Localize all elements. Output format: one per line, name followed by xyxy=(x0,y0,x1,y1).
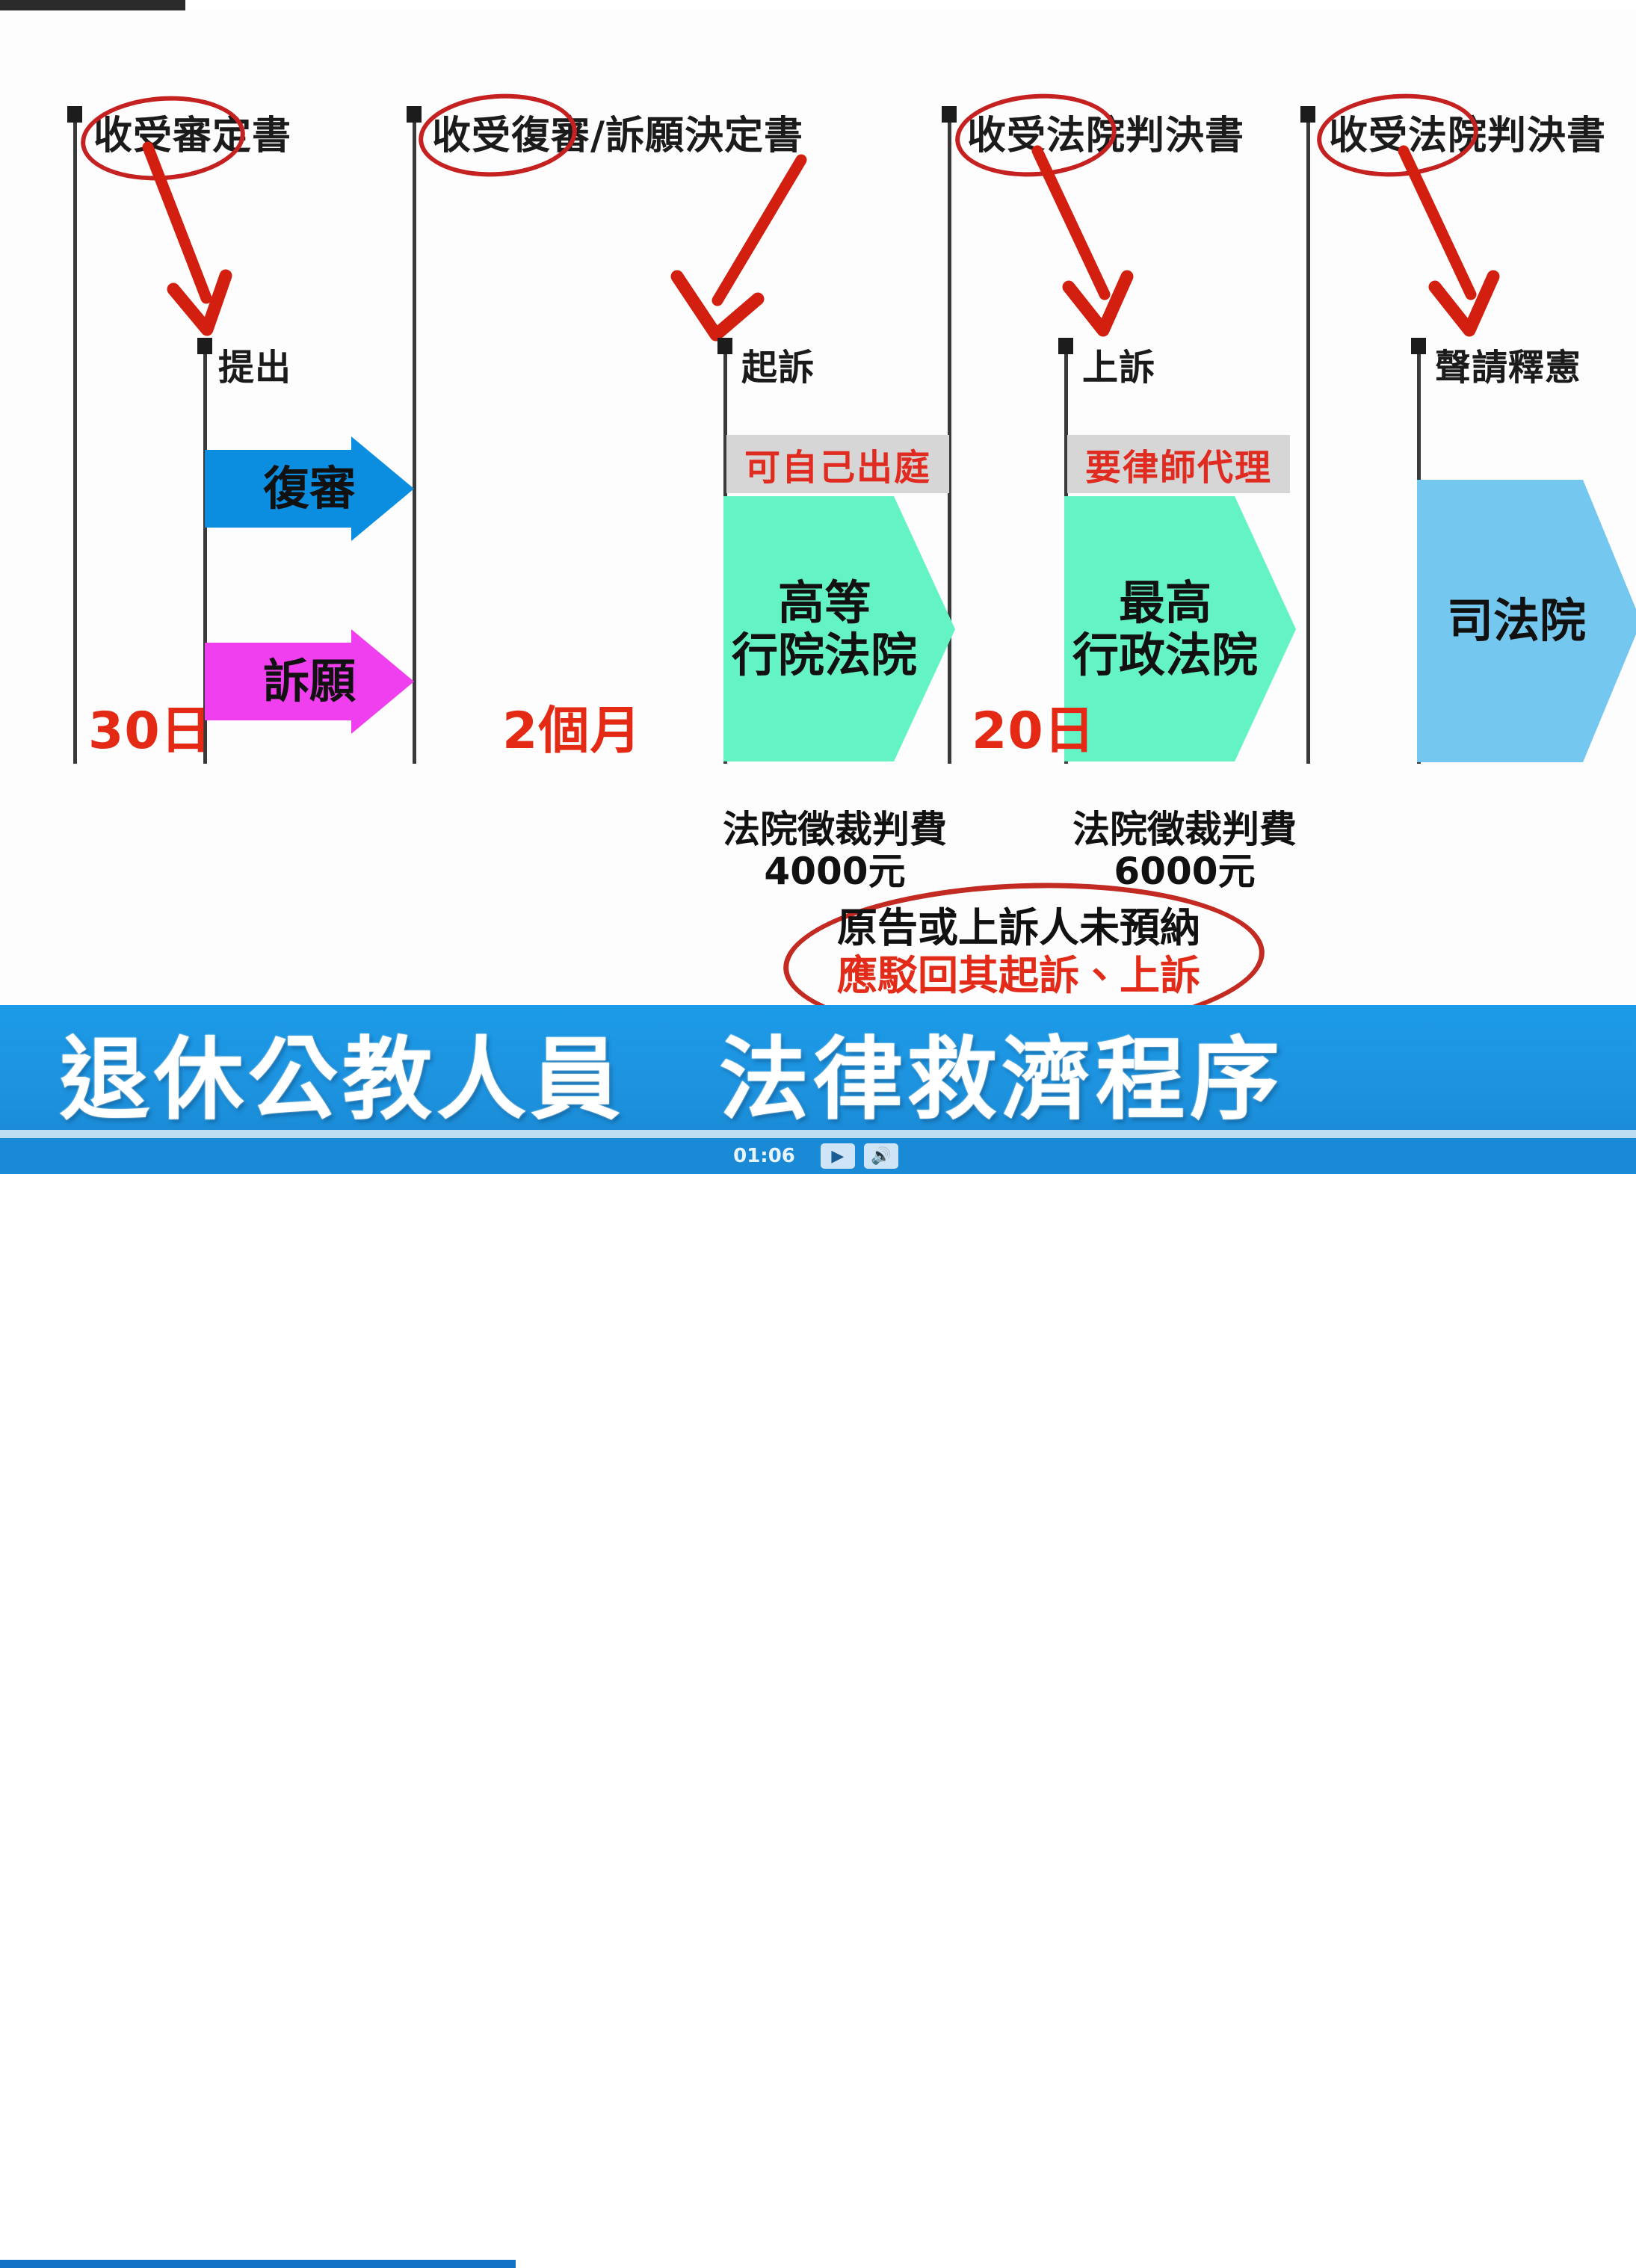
flow-arrow-judicial-yuan-label: 司法院 xyxy=(1447,595,1586,646)
timeline-node-col4-mid xyxy=(1411,338,1426,354)
flow-arrow-review-label: 復審 xyxy=(263,463,356,514)
flow-label-line1: 高等 xyxy=(732,577,917,628)
timeline-rule-col1-left xyxy=(73,108,77,764)
node-label-col3-mid: 上訴 xyxy=(1082,338,1155,390)
fee-note-col2: 法院徵裁判費 4000元 xyxy=(711,809,958,892)
warning-note: 原告或上訴人未預納 應駁回其起訴、上訴 xyxy=(798,904,1239,999)
timeline-node-col1-mid xyxy=(197,338,212,354)
annotation-arrow-col1 xyxy=(135,141,239,343)
timeline-rule-col3-right xyxy=(1306,108,1310,764)
duration-col2: 2個月 xyxy=(502,689,641,763)
warning-note-line1: 原告或上訴人未預納 xyxy=(798,904,1239,952)
flow-arrow-appeal: 訴願 xyxy=(205,629,414,734)
timeline-node-col2-mid xyxy=(717,338,732,354)
node-label-col1-mid: 提出 xyxy=(218,338,291,390)
flow-label-line2: 行政法院 xyxy=(1072,629,1258,681)
duration-col1: 30日 xyxy=(88,689,212,763)
play-icon[interactable]: ▶ xyxy=(821,1143,855,1169)
banner-title: 退休公教人員 法律救濟程序 xyxy=(60,1007,1284,1137)
annotation-arrow-col3 xyxy=(1022,145,1142,339)
flow-arrow-judicial-yuan: 司法院 xyxy=(1417,480,1636,762)
flow-label-line1: 最高 xyxy=(1072,577,1258,628)
flow-arrow-supreme-admin-court-label: 最高 行政法院 xyxy=(1072,577,1258,681)
annotation-ellipse-col2 xyxy=(416,89,579,182)
timeline-node-col3-mid xyxy=(1058,338,1073,354)
annotation-arrow-col4 xyxy=(1389,145,1508,339)
slide-canvas: 收受審定書 提出 復審 訴願 30日 收受復審/訴願決定書 xyxy=(0,0,1636,1174)
warning-note-line2: 應駁回其起訴、上訴 xyxy=(798,952,1239,1000)
duration-col3: 20日 xyxy=(972,689,1096,763)
flow-arrow-review: 復審 xyxy=(205,436,414,541)
volume-icon[interactable]: 🔊 xyxy=(864,1143,898,1169)
node-label-col2-mid: 起訴 xyxy=(741,338,815,390)
fee-note-col2-line1: 法院徵裁判費 xyxy=(711,809,958,850)
playback-time: 01:06 xyxy=(733,1145,795,1167)
timeline-node-col1-top xyxy=(67,106,82,123)
top-strip-dark-segment xyxy=(0,0,185,10)
progress-fill xyxy=(0,2260,516,2268)
node-label-col4-mid: 聲請釋憲 xyxy=(1435,338,1581,390)
fee-note-col3-line1: 法院徵裁判費 xyxy=(1061,809,1308,850)
flow-arrow-supreme-admin-court: 最高 行政法院 xyxy=(1064,496,1296,761)
timeline-node-col4-top xyxy=(1300,106,1315,123)
fee-note-col2-line2: 4000元 xyxy=(711,850,958,892)
annotation-arrow-col2 xyxy=(665,152,815,347)
diagram-area: 收受審定書 提出 復審 訴願 30日 收受復審/訴願決定書 xyxy=(0,10,1636,1005)
progress-track[interactable] xyxy=(0,1130,1636,1138)
chip-lawyer-required: 要律師代理 xyxy=(1067,435,1290,493)
video-player-bar[interactable]: 01:06 ▶ 🔊 xyxy=(0,1138,1636,1174)
flow-label-line2: 行院法院 xyxy=(732,629,917,681)
fee-note-col3: 法院徵裁判費 6000元 xyxy=(1061,809,1308,892)
flow-arrow-high-admin-court: 高等 行院法院 xyxy=(723,496,955,761)
bottom-banner: 退休公教人員 法律救濟程序 xyxy=(0,1005,1636,1138)
timeline-node-col3-top xyxy=(942,106,957,123)
chip-self-representation: 可自己出庭 xyxy=(726,435,949,493)
timeline-node-col2-top xyxy=(407,106,422,123)
flow-arrow-appeal-label: 訴願 xyxy=(263,655,356,707)
top-strip xyxy=(0,0,1636,10)
flow-arrow-high-admin-court-label: 高等 行院法院 xyxy=(732,577,917,681)
